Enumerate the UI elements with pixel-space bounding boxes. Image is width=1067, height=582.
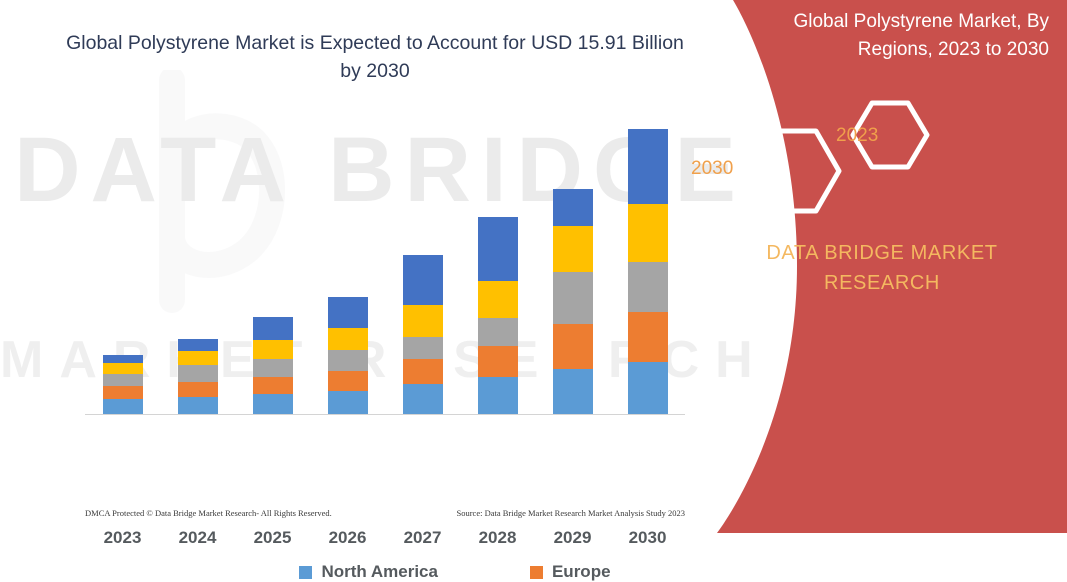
chart-plot-area: [85, 113, 685, 415]
bar-segment: [403, 255, 443, 305]
bar-segment: [553, 226, 593, 272]
footer: DMCA Protected © Data Bridge Market Rese…: [85, 508, 685, 518]
bar-segment: [553, 272, 593, 324]
bar-column: [462, 114, 534, 414]
legend-swatch-icon: [299, 566, 312, 579]
hexagon-2023-label: 2023: [836, 125, 878, 147]
bar-segment: [553, 324, 593, 369]
bar-segment: [253, 359, 293, 377]
bar-segment: [553, 369, 593, 414]
x-axis-label: 2025: [237, 528, 309, 548]
bar-segment: [253, 340, 293, 359]
bar-segment: [178, 351, 218, 365]
bar-segment: [328, 297, 368, 328]
infographic-canvas: DATA BRIDGE MARKET RESEARCH Global Polys…: [0, 0, 1067, 533]
bar-segment: [178, 365, 218, 382]
x-axis-label: 2029: [537, 528, 609, 548]
hexagon-group: [722, 95, 952, 225]
legend-label: Europe: [552, 562, 611, 582]
bar-segment: [253, 377, 293, 394]
chart-bars: [85, 114, 685, 414]
bar-column: [162, 114, 234, 414]
footer-copyright: DMCA Protected © Data Bridge Market Rese…: [85, 508, 332, 518]
page-title: Global Polystyrene Market is Expected to…: [60, 30, 690, 85]
brand-name: DATA BRIDGE MARKET RESEARCH: [717, 238, 1047, 298]
stacked-bar-chart: 20232024202520262027202820292030 North A…: [85, 110, 685, 415]
x-axis-label: 2023: [87, 528, 159, 548]
panel-title: Global Polystyrene Market, By Regions, 2…: [719, 8, 1049, 63]
bar-segment: [328, 371, 368, 391]
legend-swatch-icon: [530, 566, 543, 579]
bar-segment: [403, 359, 443, 384]
bar-segment: [403, 384, 443, 414]
stacked-bar: [178, 339, 218, 414]
x-axis-label: 2026: [312, 528, 384, 548]
bar-column: [387, 114, 459, 414]
bar-segment: [328, 350, 368, 371]
bar-segment: [328, 328, 368, 350]
stacked-bar: [328, 297, 368, 414]
bar-segment: [103, 355, 143, 363]
bar-segment: [103, 374, 143, 386]
legend-item[interactable]: North America: [299, 562, 438, 582]
legend-item[interactable]: Europe: [530, 562, 611, 582]
bar-segment: [403, 305, 443, 337]
x-axis-line: [85, 414, 685, 415]
bar-segment: [103, 363, 143, 374]
bar-segment: [478, 318, 518, 346]
bar-segment: [478, 217, 518, 281]
legend-label: North America: [321, 562, 438, 582]
bar-segment: [253, 394, 293, 414]
bar-segment: [478, 346, 518, 377]
stacked-bar: [253, 317, 293, 414]
chart-legend: North AmericaEurope: [205, 562, 705, 582]
bar-segment: [178, 339, 218, 351]
bar-segment: [478, 281, 518, 318]
x-axis-label: 2028: [462, 528, 534, 548]
stacked-bar: [103, 355, 143, 414]
bar-segment: [328, 391, 368, 414]
bar-segment: [403, 337, 443, 359]
bar-segment: [553, 189, 593, 226]
stacked-bar: [403, 255, 443, 414]
bar-segment: [103, 386, 143, 399]
bar-segment: [178, 382, 218, 397]
bar-column: [237, 114, 309, 414]
bar-segment: [478, 377, 518, 414]
bar-segment: [103, 399, 143, 414]
x-axis-label: 2027: [387, 528, 459, 548]
bar-segment: [178, 397, 218, 414]
bar-column: [87, 114, 159, 414]
hexagon-2030-shape: [747, 131, 839, 211]
hexagon-2030-label: 2030: [691, 158, 733, 180]
bar-column: [537, 114, 609, 414]
stacked-bar: [553, 189, 593, 414]
stacked-bar: [478, 217, 518, 414]
x-axis-labels: 20232024202520262027202820292030: [85, 528, 685, 548]
bar-column: [312, 114, 384, 414]
bar-segment: [253, 317, 293, 340]
x-axis-label: 2024: [162, 528, 234, 548]
red-panel-content: Global Polystyrene Market, By Regions, 2…: [647, 0, 1067, 533]
